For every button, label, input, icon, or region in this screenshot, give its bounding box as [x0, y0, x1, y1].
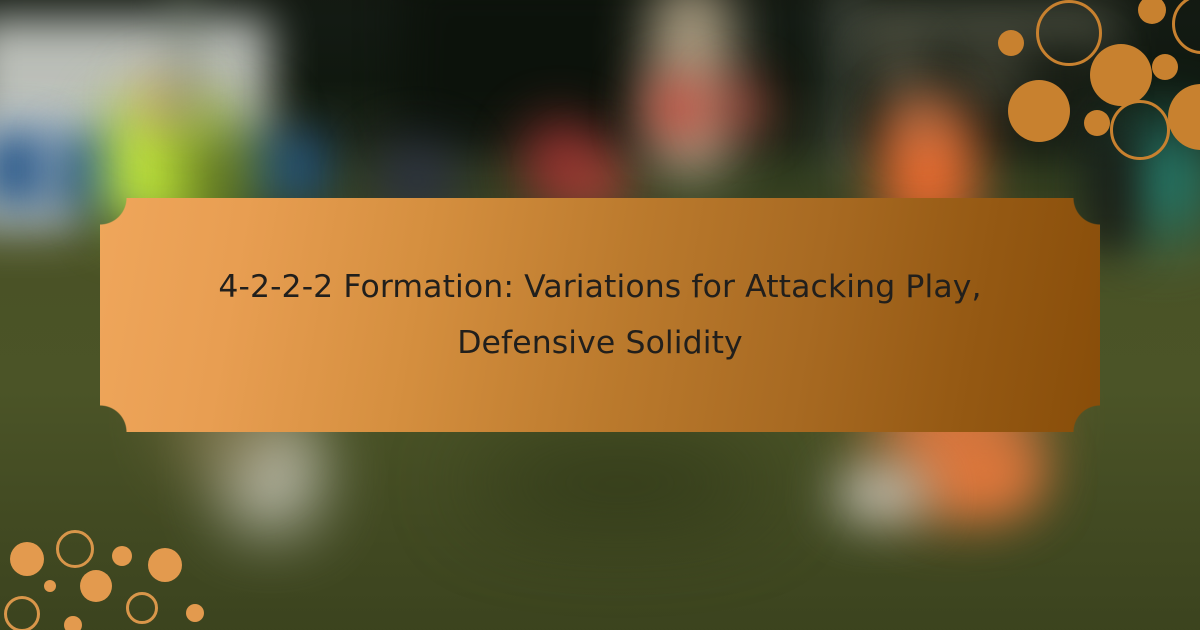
bg-dugout-frame [836, 0, 854, 180]
decorative-dot [64, 616, 82, 630]
decorative-dot [148, 548, 182, 582]
page-title: 4-2-2-2 Formation: Variations for Attack… [170, 259, 1030, 371]
bottom-left-dot-cluster [0, 500, 230, 630]
decorative-dot [1168, 84, 1200, 150]
bg-dugout-light-a [872, 46, 928, 90]
bg-player-orange-sock [930, 440, 1040, 510]
decorative-ring [1036, 0, 1102, 66]
decorative-ring [1110, 100, 1170, 160]
bg-ground-shadow [470, 448, 770, 518]
decorative-ring [126, 592, 158, 624]
decorative-dot [1138, 0, 1166, 24]
decorative-dot [112, 546, 132, 566]
decorative-dot [1008, 80, 1070, 142]
bg-player-orange-head [900, 96, 944, 142]
top-right-dot-cluster [980, 0, 1200, 142]
decorative-dot [998, 30, 1024, 56]
bg-figure-red-shorts-2 [716, 80, 766, 132]
title-card: 4-2-2-2 Formation: Variations for Attack… [100, 198, 1100, 432]
bg-figure-red-shorts [646, 78, 710, 138]
bg-banner-blue-a [0, 128, 50, 208]
bg-player-boot [836, 470, 926, 518]
decorative-ring [1172, 0, 1200, 54]
decorative-dot [186, 604, 204, 622]
decorative-ring [56, 530, 94, 568]
decorative-dot [44, 580, 56, 592]
bg-pylon-left [172, 0, 198, 130]
decorative-dot [80, 570, 112, 602]
social-card-canvas: 4-2-2-2 Formation: Variations for Attack… [0, 0, 1200, 630]
decorative-dot [1152, 54, 1178, 80]
decorative-dot [10, 542, 44, 576]
decorative-ring [4, 596, 40, 630]
decorative-dot [1084, 110, 1110, 136]
decorative-dot [1090, 44, 1152, 106]
